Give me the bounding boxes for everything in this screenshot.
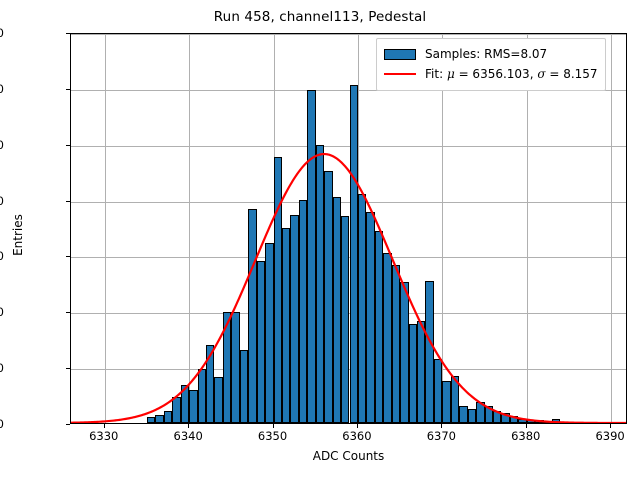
legend-item-samples: Samples: RMS=8.07 [384,44,598,64]
x-axis-tick-mark [441,424,442,428]
histogram-bar [198,369,206,423]
x-axis-label: ADC Counts [70,449,627,463]
x-axis-tick-label: 6340 [158,429,218,443]
legend-item-fit: Fit: μ = 6356.103, σ = 8.157 [384,64,598,84]
histogram-bar [155,415,163,423]
histogram-bar [282,228,290,424]
x-axis-tick-label: 6330 [74,429,134,443]
histogram-bar [358,194,366,423]
histogram-bar [206,345,214,423]
chart-legend: Samples: RMS=8.07 Fit: μ = 6356.103, σ =… [376,38,606,91]
histogram-bar [434,359,442,423]
histogram-bar [552,419,560,423]
x-axis-tick-mark [526,424,527,428]
y-axis-tick-label: 300 [0,249,4,263]
histogram-bar [240,350,248,423]
legend-swatch-fit-icon [384,73,416,75]
histogram-bar [324,171,332,423]
y-axis-tick-label: 100 [0,361,4,375]
x-axis-tick-label: 6370 [411,429,471,443]
histogram-bar [417,321,425,423]
histogram-bar [189,390,197,424]
histogram-bar [535,420,543,423]
gridline-vertical [105,34,106,423]
histogram-bar [451,376,459,423]
histogram-bar [265,243,273,423]
histogram-bar [459,406,467,423]
gridline-vertical [189,34,190,423]
histogram-bar [147,417,155,423]
y-axis-tick-label: 700 [0,26,4,40]
histogram-bar [223,312,231,423]
x-axis-tick-mark [273,424,274,428]
histogram-bar [214,377,222,423]
x-axis-tick-mark [610,424,611,428]
histogram-bar [383,253,391,423]
gridline-vertical [527,34,528,423]
gridline-horizontal [71,34,626,35]
histogram-bar [527,420,535,423]
page-title: Run 458, channel113, Pedestal [0,9,640,25]
x-axis-tick-label: 6380 [496,429,556,443]
x-axis-tick-mark [104,424,105,428]
x-axis-tick-label: 6360 [327,429,387,443]
histogram-bar [392,265,400,423]
y-axis-tick-label: 400 [0,194,4,208]
gridline-horizontal [71,146,626,147]
histogram-bar [333,197,341,423]
histogram-bar [510,416,518,423]
histogram-bar [257,261,265,423]
histogram-bar [375,231,383,423]
histogram-bar [518,419,526,423]
histogram-bar [350,85,358,423]
histogram-bar [544,421,552,423]
histogram-bar [468,409,476,423]
histogram-bar [172,397,180,423]
x-axis-tick-label: 6350 [243,429,303,443]
x-axis-tick-label: 6390 [580,429,640,443]
gridline-horizontal [71,202,626,203]
histogram-bar [316,145,324,423]
histogram-bar [409,324,417,423]
gridline-vertical [442,34,443,423]
x-axis-tick-mark [188,424,189,428]
x-axis-tick-mark [357,424,358,428]
histogram-bar [341,216,349,423]
histogram-bar [476,402,484,423]
histogram-bar [307,90,315,423]
histogram-bar [248,209,256,423]
y-axis-tick-mark [66,424,70,425]
histogram-bar [442,381,450,423]
histogram-bar [181,385,189,423]
histogram-bar [366,212,374,423]
histogram-bar [290,215,298,423]
y-axis-tick-label: 600 [0,82,4,96]
y-axis-label: Entries [11,135,25,335]
histogram-bar [425,281,433,423]
legend-swatch-samples-icon [384,49,416,60]
histogram-bar [493,411,501,423]
histogram-bar [231,312,239,423]
histogram-bar [164,411,172,423]
y-axis-tick-label: 500 [0,138,4,152]
histogram-bar [274,157,282,423]
histogram-bar [501,413,509,423]
histogram-bar [485,406,493,423]
legend-label-fit: Fit: μ = 6356.103, σ = 8.157 [425,67,598,81]
histogram-bar [299,200,307,423]
legend-label-samples: Samples: RMS=8.07 [425,47,547,61]
gridline-vertical [611,34,612,423]
plot-area [70,33,627,424]
y-axis-tick-label: 0 [0,417,4,431]
figure-canvas: Run 458, channel113, Pedestal Entries AD… [0,0,640,480]
histogram-bar [400,282,408,423]
y-axis-tick-label: 200 [0,305,4,319]
